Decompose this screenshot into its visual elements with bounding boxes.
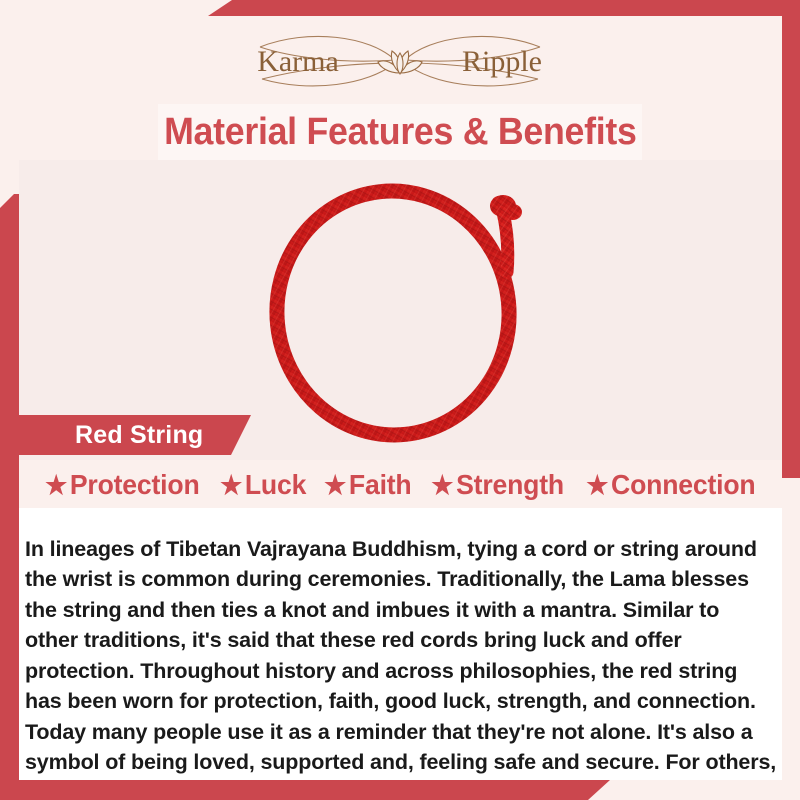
benefits-list: ★ Protection ★ Luck ★ Faith ★ Strength ★… [19,462,782,508]
benefit-label: Protection [70,469,200,501]
frame-bottom-bar [0,780,610,800]
benefit-label: Luck [244,469,305,501]
brand-logo: Karma Ripple [0,28,800,96]
benefit-label: Faith [349,469,412,501]
star-icon: ★ [45,472,67,498]
benefit-label: Connection [611,469,755,501]
frame-top-bar [208,0,800,16]
benefit-item: ★ Faith [317,469,412,501]
description-section: In lineages of Tibetan Vajrayana Buddhis… [19,508,782,780]
red-string-bracelet-image [241,168,561,453]
benefit-item: ★ Strength [424,469,564,501]
star-icon: ★ [324,472,346,498]
poster-canvas: Karma Ripple Material Features & Benefit… [0,0,800,800]
page-title-band: Material Features & Benefits [158,104,642,160]
page-title: Material Features & Benefits [164,113,636,151]
star-icon: ★ [432,472,454,498]
benefit-item: ★ Luck [212,469,306,501]
brand-logo-svg: Karma Ripple [190,31,610,93]
ribbon-label: Red String [19,421,203,450]
benefit-item: ★ Protection [45,469,199,501]
brand-name-right: Ripple [462,45,542,78]
benefit-label: Strength [456,469,564,501]
star-icon: ★ [586,472,608,498]
description-paragraph: In lineages of Tibetan Vajrayana Buddhis… [25,534,777,800]
brand-name-left: Karma [257,45,339,78]
star-icon: ★ [220,472,242,498]
benefit-item: ★ Connection [579,469,756,501]
red-string-ribbon: Red String [19,415,251,455]
frame-left-bar [0,194,19,780]
